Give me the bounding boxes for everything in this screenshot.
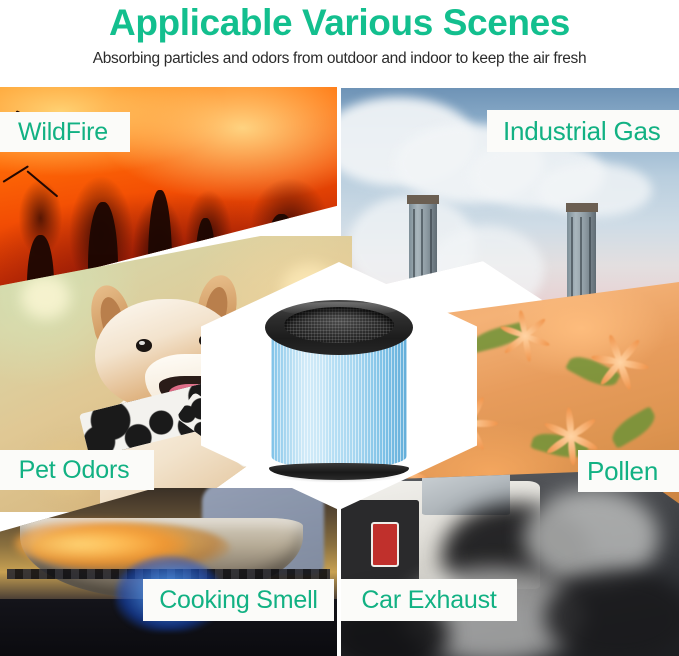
lily-flower: [498, 314, 554, 351]
header: Applicable Various Scenes Absorbing part…: [0, 0, 679, 87]
scene-label-car-exhaust: Car Exhaust: [341, 579, 517, 621]
hepa-air-filter-product: [265, 296, 413, 480]
lily-flower: [588, 338, 651, 380]
scene-label-text: WildFire: [18, 118, 108, 147]
foliage: [607, 406, 660, 449]
dog-eye: [136, 339, 152, 351]
scene-label-pet-odors: Pet Odors: [0, 450, 154, 490]
filter-mesh-grille: [284, 307, 394, 342]
tail-light: [371, 522, 399, 567]
filter-top-cap: [265, 300, 413, 355]
scene-label-pollen: Pollen: [578, 450, 679, 492]
lily-flower: [539, 412, 602, 454]
scene-label-text: Industrial Gas: [503, 116, 661, 147]
scene-label-cooking-smell: Cooking Smell: [143, 579, 334, 621]
page-title: Applicable Various Scenes: [0, 0, 679, 44]
scene-image-cooking-smell: [0, 488, 337, 656]
smoke-plume: [429, 226, 544, 310]
scene-label-industrial-gas: Industrial Gas: [487, 110, 679, 152]
scene-label-text: Pet Odors: [19, 456, 130, 485]
scene-label-text: Car Exhaust: [361, 586, 496, 615]
scene-label-wildfire: WildFire: [0, 112, 130, 152]
bokeh-light: [21, 275, 70, 319]
infographic-stage: Applicable Various Scenes Absorbing part…: [0, 0, 679, 656]
smokestack: [409, 195, 438, 310]
scene-label-text: Cooking Smell: [159, 586, 318, 615]
exhaust-smoke: [544, 570, 679, 656]
scene-label-text: Pollen: [587, 456, 658, 487]
page-subtitle: Absorbing particles and odors from outdo…: [0, 44, 679, 69]
scene-image-car-exhaust: [341, 470, 679, 656]
